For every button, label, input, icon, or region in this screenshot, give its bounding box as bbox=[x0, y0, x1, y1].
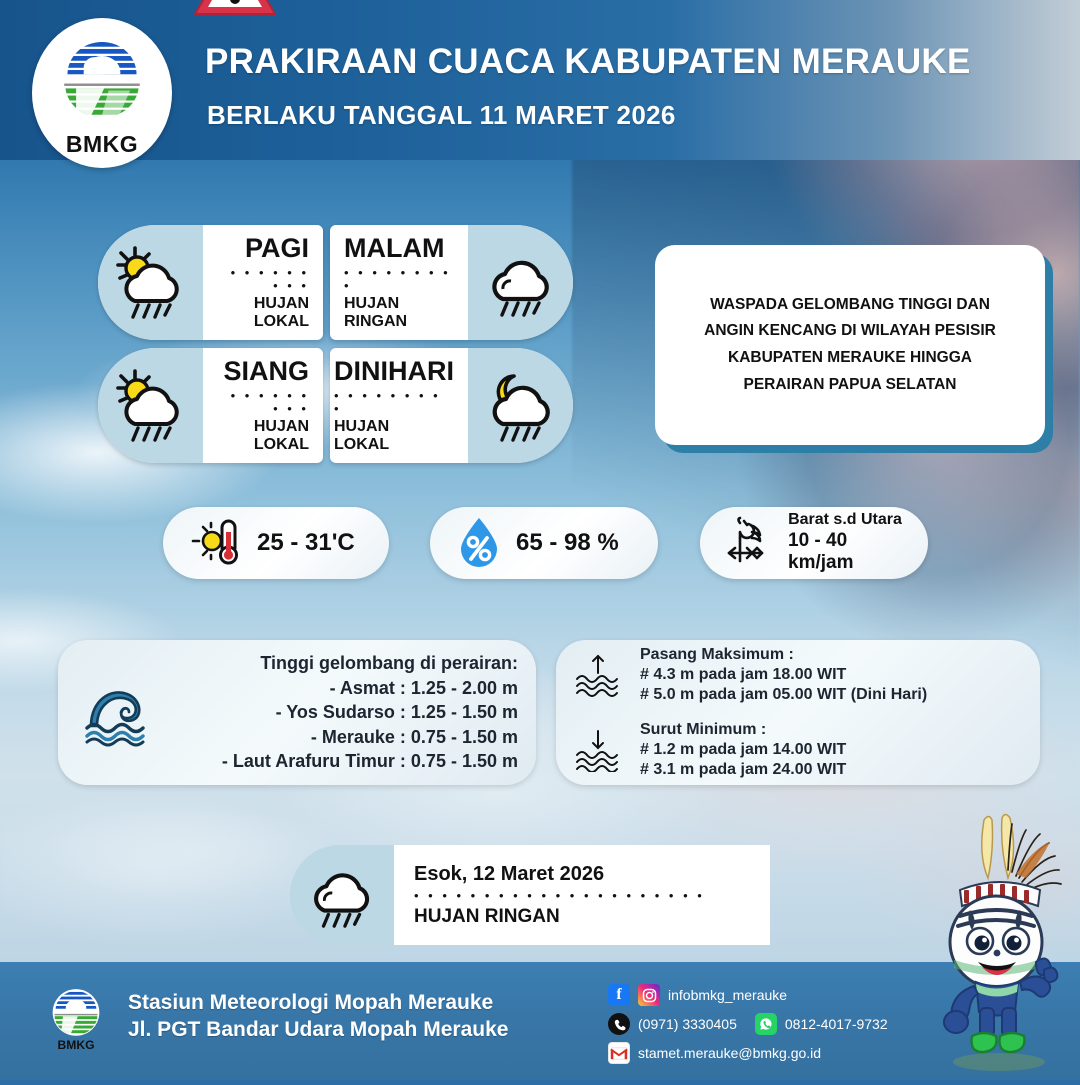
email-row[interactable]: stamet.merauke@bmkg.go.id bbox=[608, 1042, 888, 1064]
wave-panel-title: Tinggi gelombang di perairan: bbox=[178, 651, 518, 675]
bmkg-logo-icon: BMKG bbox=[48, 986, 104, 1052]
temperature-value: 25 - 31'C bbox=[257, 529, 355, 557]
forecast-card-dinihari[interactable]: DINIHARI • • • • • • • • • HUJAN LOKAL bbox=[330, 348, 573, 463]
wave-row-yos-sudarso: - Yos Sudarso : 1.25 - 1.50 m bbox=[178, 700, 518, 724]
tomorrow-condition: HUJAN RINGAN bbox=[414, 906, 750, 928]
bmkg-mascot-icon bbox=[924, 810, 1074, 1080]
instagram-icon[interactable] bbox=[638, 984, 660, 1006]
wave-row-laut-arafuru-timur: - Laut Arafuru Timur : 0.75 - 1.50 m bbox=[178, 749, 518, 773]
warning-line-1: WASPADA GELOMBANG TINGGI DAN bbox=[704, 292, 996, 319]
bmkg-logo-icon: BMKG bbox=[32, 18, 172, 168]
whatsapp-number: 0812-4017-9732 bbox=[785, 1016, 888, 1032]
header-banner: BMKG PRAKIRAAN CUACA KABUPATEN MERAUKE B… bbox=[0, 0, 1080, 160]
dotted-divider: • • • • • • • • • bbox=[334, 389, 454, 415]
forecast-period-label: MALAM bbox=[344, 234, 444, 262]
tide-low-title: Surut Minimum : bbox=[640, 720, 846, 740]
dotted-divider: • • • • • • • • • bbox=[217, 266, 309, 292]
station-line-1: Stasiun Meteorologi Mopah Merauke bbox=[128, 990, 508, 1017]
wind-direction-value: Barat s.d Utara bbox=[788, 511, 902, 530]
tide-low-line2: # 3.1 m pada jam 24.00 WIT bbox=[640, 760, 846, 780]
social-row[interactable]: f infobmkg_merauke bbox=[608, 984, 888, 1006]
station-line-2: Jl. PGT Bandar Udara Mopah Merauke bbox=[128, 1017, 508, 1044]
phone-number: (0971) 3330405 bbox=[638, 1016, 737, 1032]
dotted-divider: • • • • • • • • • bbox=[344, 266, 454, 292]
email-icon[interactable] bbox=[608, 1042, 630, 1064]
bmkg-footer-logo-text: BMKG bbox=[57, 1038, 94, 1052]
forecast-card-siang[interactable]: SIANG • • • • • • • • • HUJAN LOKAL bbox=[98, 348, 323, 463]
page-subtitle: BERLAKU TANGGAL 11 MARET 2026 bbox=[207, 100, 676, 131]
forecast-card-pagi[interactable]: PAGI • • • • • • • • • HUJAN LOKAL bbox=[98, 225, 323, 340]
weathervane-icon bbox=[726, 515, 774, 572]
whatsapp-icon[interactable] bbox=[755, 1013, 777, 1035]
forecast-condition-line2: LOKAL bbox=[334, 436, 389, 454]
cloud-rain-icon bbox=[290, 845, 394, 945]
tomorrow-forecast-card[interactable]: Esok, 12 Maret 2026 • • • • • • • • • • … bbox=[290, 845, 770, 945]
phone-icon[interactable] bbox=[608, 1013, 630, 1035]
forecast-card-malam[interactable]: MALAM • • • • • • • • • HUJAN RINGAN bbox=[330, 225, 573, 340]
page-title: PRAKIRAAN CUACA KABUPATEN MERAUKE bbox=[205, 42, 971, 82]
forecast-condition-line1: HUJAN bbox=[334, 418, 389, 436]
sun-cloud-rain-icon bbox=[98, 225, 203, 340]
station-name: Stasiun Meteorologi Mopah Merauke Jl. PG… bbox=[128, 990, 508, 1044]
warning-line-4: PERAIRAN PAPUA SELATAN bbox=[704, 372, 996, 399]
ocean-wave-icon bbox=[68, 676, 178, 750]
forecast-condition-line2: LOKAL bbox=[254, 436, 309, 454]
tide-high-row: Pasang Maksimum : # 4.3 m pada jam 18.00… bbox=[568, 645, 1026, 705]
forecast-condition-line1: HUJAN bbox=[344, 295, 399, 313]
facebook-icon[interactable]: f bbox=[608, 984, 630, 1006]
warning-triangle-icon bbox=[192, 0, 278, 25]
dotted-divider: • • • • • • • • • • • • • • • • • • • • … bbox=[414, 889, 750, 902]
forecast-condition-line1: HUJAN bbox=[254, 295, 309, 313]
thermometer-sun-icon bbox=[189, 516, 243, 571]
tide-down-icon bbox=[568, 728, 628, 772]
humidity-value: 65 - 98 % bbox=[516, 529, 619, 557]
temperature-pill: 25 - 31'C bbox=[163, 507, 389, 579]
forecast-period-label: PAGI bbox=[245, 234, 309, 262]
tide-high-line1: # 4.3 m pada jam 18.00 WIT bbox=[640, 665, 927, 685]
wind-pill: Barat s.d Utara 10 - 40 km/jam bbox=[700, 507, 928, 579]
email-address: stamet.merauke@bmkg.go.id bbox=[638, 1045, 821, 1061]
forecast-period-label: SIANG bbox=[223, 357, 309, 385]
forecast-period-label: DINIHARI bbox=[334, 357, 454, 385]
wind-speed-value: 10 - 40 km/jam bbox=[788, 530, 902, 575]
bmkg-logo-text: BMKG bbox=[66, 131, 138, 158]
warning-line-3: KABUPATEN MERAUKE HINGGA bbox=[704, 345, 996, 372]
contact-block: f infobmkg_merauke (0971) 3330405 bbox=[608, 984, 888, 1064]
social-handle: infobmkg_merauke bbox=[668, 987, 787, 1003]
tide-low-line1: # 1.2 m pada jam 14.00 WIT bbox=[640, 740, 846, 760]
tide-up-icon bbox=[568, 653, 628, 697]
sun-cloud-rain-icon bbox=[98, 348, 203, 463]
tomorrow-date: Esok, 12 Maret 2026 bbox=[414, 863, 750, 886]
phone-row[interactable]: (0971) 3330405 0812-4017-9732 bbox=[608, 1013, 888, 1035]
tide-low-row: Surut Minimum : # 1.2 m pada jam 14.00 W… bbox=[568, 720, 1026, 780]
warning-line-2: ANGIN KENCANG DI WILAYAH PESISIR bbox=[704, 318, 996, 345]
tide-panel: Pasang Maksimum : # 4.3 m pada jam 18.00… bbox=[556, 640, 1040, 785]
humidity-pill: 65 - 98 % bbox=[430, 507, 658, 579]
forecast-condition-line1: HUJAN bbox=[254, 418, 309, 436]
forecast-condition-line2: LOKAL bbox=[254, 313, 309, 331]
dotted-divider: • • • • • • • • • bbox=[217, 389, 309, 415]
footer-bar: BMKG Stasiun Meteorologi Mopah Merauke J… bbox=[0, 962, 1080, 1080]
wave-height-panel: Tinggi gelombang di perairan: - Asmat : … bbox=[58, 640, 536, 785]
wave-row-asmat: - Asmat : 1.25 - 2.00 m bbox=[178, 676, 518, 700]
forecast-condition-line2: RINGAN bbox=[344, 313, 407, 331]
warning-panel: WASPADA GELOMBANG TINGGI DAN ANGIN KENCA… bbox=[655, 245, 1045, 445]
warning-panel-body: WASPADA GELOMBANG TINGGI DAN ANGIN KENCA… bbox=[655, 245, 1045, 445]
humidity-droplet-icon bbox=[456, 515, 502, 572]
wave-row-merauke: - Merauke : 0.75 - 1.50 m bbox=[178, 725, 518, 749]
tide-high-title: Pasang Maksimum : bbox=[640, 645, 927, 665]
tide-high-line2: # 5.0 m pada jam 05.00 WIT (Dini Hari) bbox=[640, 685, 927, 705]
